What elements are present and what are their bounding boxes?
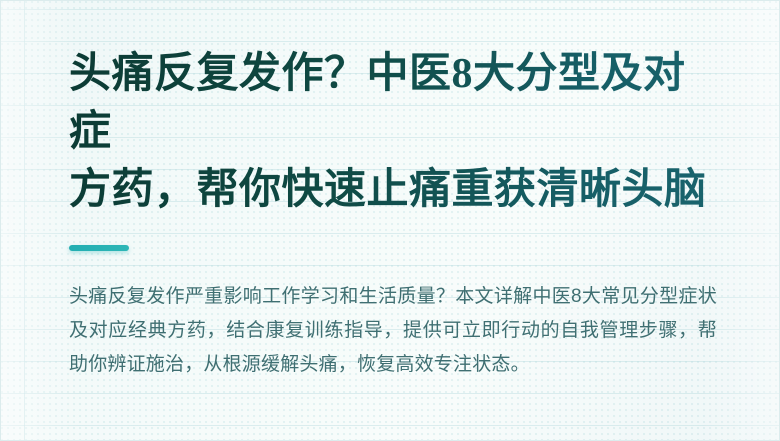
cover-summary-text: 头痛反复发作严重影响工作学习和生活质量？本文详解中医8大常见分型症状及对应经典方… <box>69 280 717 382</box>
page-title: 头痛反复发作？中医8大分型及对症 方药，帮你快速止痛重获清晰头脑 <box>69 45 717 219</box>
page-title-line-2: 方药，帮你快速止痛重获清晰头脑 <box>69 161 717 219</box>
article-cover-card: 头痛反复发作？中医8大分型及对症 方药，帮你快速止痛重获清晰头脑 头痛反复发作严… <box>0 0 780 441</box>
title-accent-bar <box>69 245 129 251</box>
page-title-line-1: 头痛反复发作？中医8大分型及对症 <box>69 45 717 161</box>
cover-content: 头痛反复发作？中医8大分型及对症 方药，帮你快速止痛重获清晰头脑 头痛反复发作严… <box>1 1 779 382</box>
